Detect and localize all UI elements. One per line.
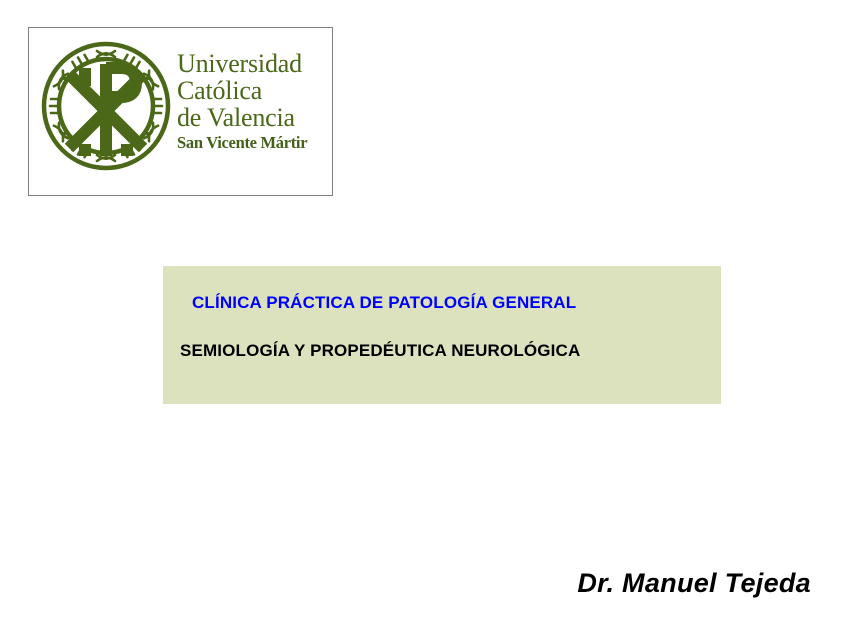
university-logo-frame: Universidad Católica de Valencia San Vic… (28, 27, 333, 196)
slide-title-secondary: SEMIOLOGÍA Y PROPEDÉUTICA NEUROLÓGICA (180, 341, 580, 361)
presentation-slide: Universidad Católica de Valencia San Vic… (0, 0, 848, 636)
wordmark-line-de-valencia: de Valencia (177, 105, 327, 131)
wordmark-tagline-san-vicente-martir: San Vicente Mártir (177, 135, 327, 152)
slide-title-box: CLÍNICA PRÁCTICA DE PATOLOGÍA GENERAL SE… (163, 266, 721, 404)
slide-author-name: Dr. Manuel Tejeda (0, 568, 811, 599)
slide-title-primary: CLÍNICA PRÁCTICA DE PATOLOGÍA GENERAL (192, 293, 576, 313)
university-emblem-icon (41, 38, 171, 174)
university-wordmark: Universidad Católica de Valencia San Vic… (177, 51, 327, 152)
wordmark-line-catolica: Católica (177, 78, 327, 104)
wordmark-line-universidad: Universidad (177, 51, 327, 77)
